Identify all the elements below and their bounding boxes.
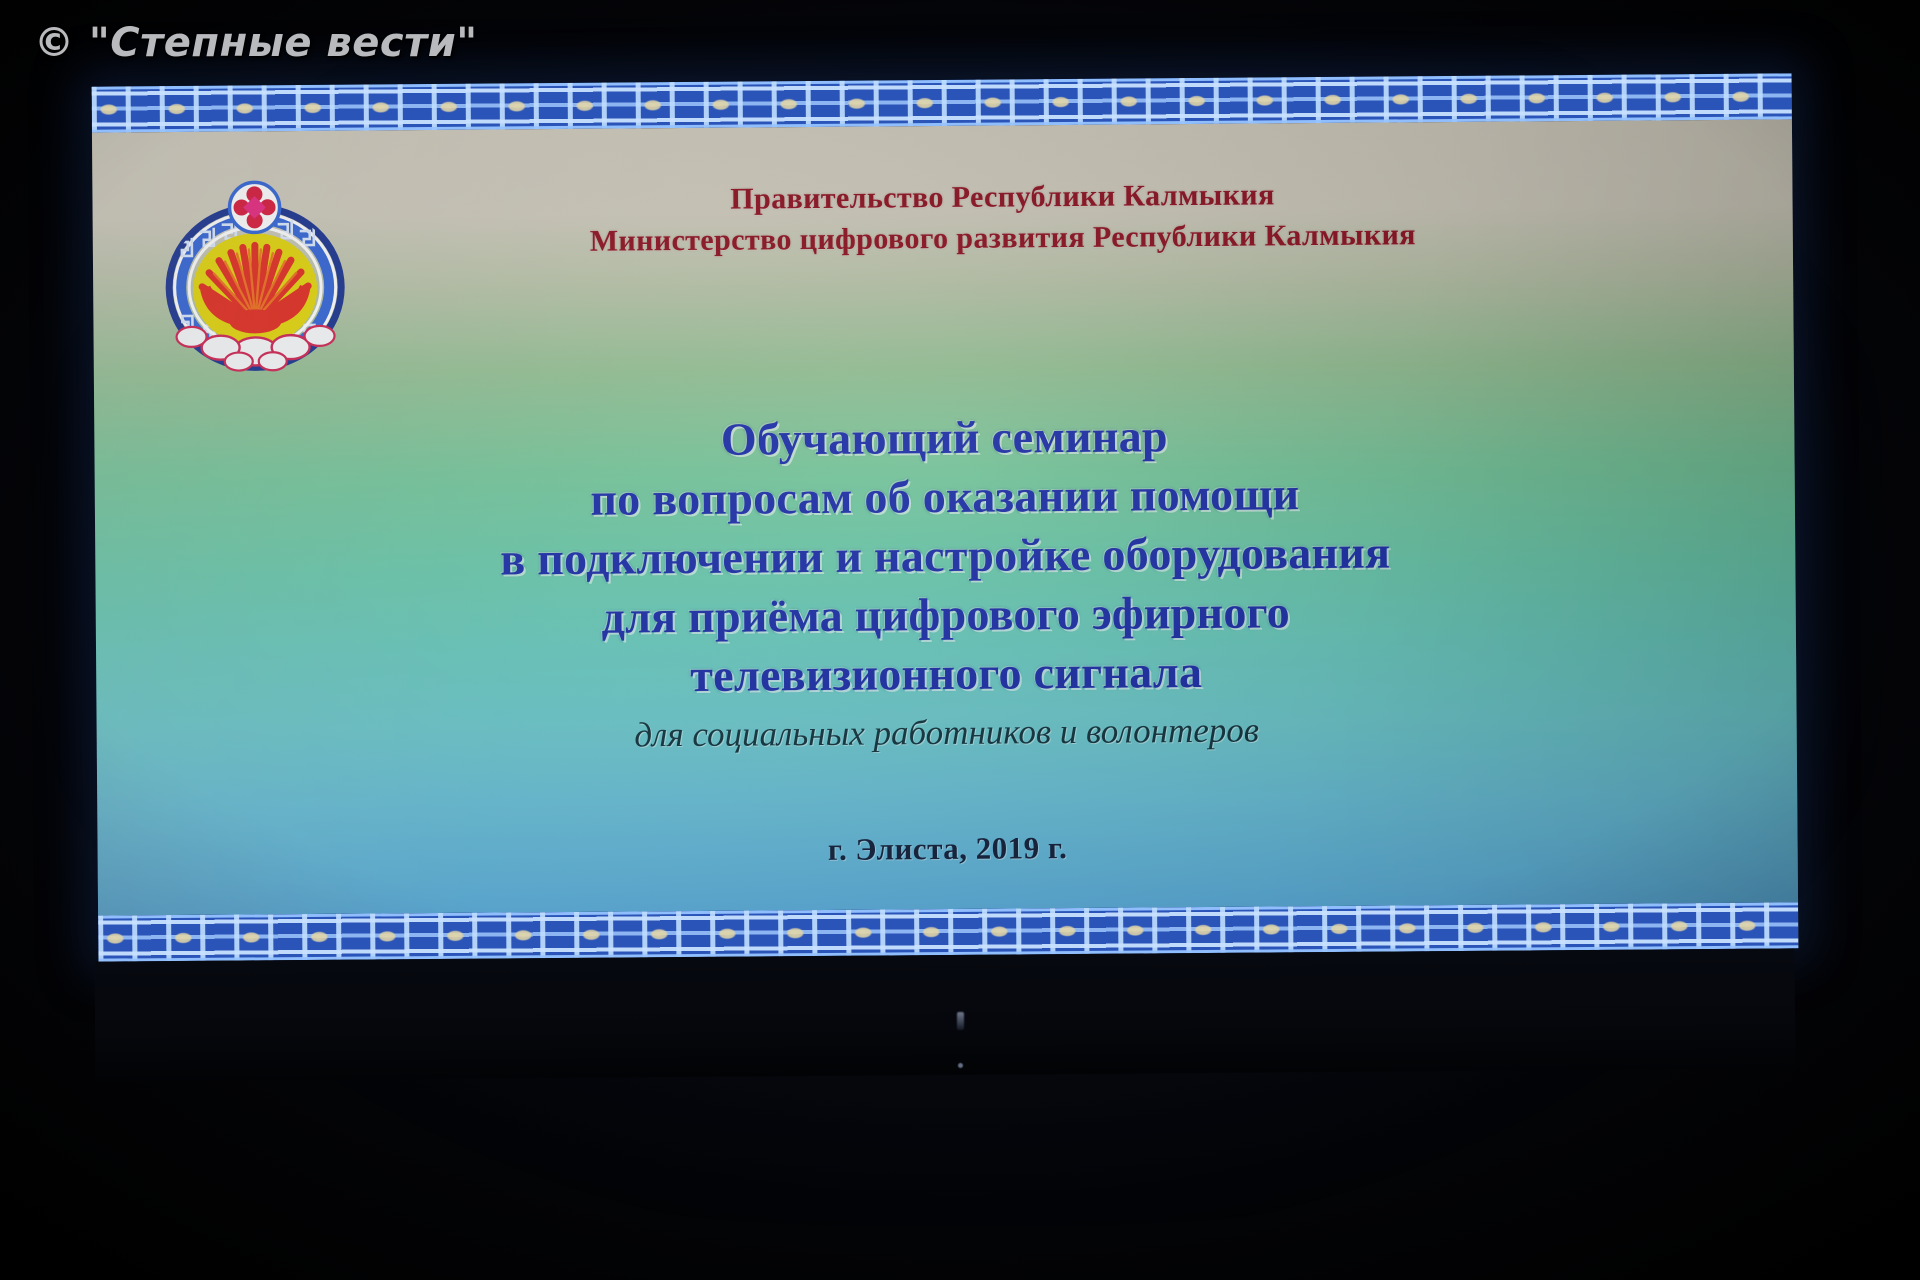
title-line-5: телевизионного сигнала	[96, 637, 1796, 709]
tv-bezel-bottom	[95, 948, 1796, 1081]
slide-subtitle: для социальных работников и волонтеров	[97, 704, 1797, 761]
power-indicator-icon	[957, 1012, 964, 1030]
photo-of-projection-screen: Правительство Республики Калмыкия Минист…	[0, 0, 1920, 1280]
place-and-year: г. Элиста, 2019 г.	[97, 824, 1797, 873]
organization-header: Правительство Республики Калмыкия Минист…	[92, 171, 1793, 266]
power-indicator-dot-icon	[958, 1063, 963, 1068]
slide-title-block: Обучающий семинар по вопросам об оказани…	[94, 401, 1797, 761]
presentation-screen: Правительство Республики Калмыкия Минист…	[92, 73, 1799, 961]
slide-canvas: Правительство Республики Калмыкия Минист…	[92, 119, 1798, 915]
watermark-copyright: © "Степные вести"	[34, 20, 478, 66]
